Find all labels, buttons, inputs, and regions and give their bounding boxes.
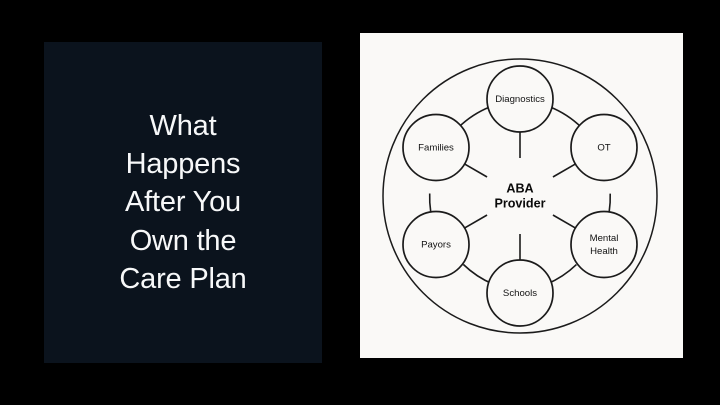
title-panel: What Happens After You Own the Care Plan xyxy=(44,42,322,363)
node-diagnostics[interactable]: Diagnostics xyxy=(487,66,553,132)
spoke-hub-families xyxy=(465,164,488,177)
slide-canvas: What Happens After You Own the Care Plan xyxy=(0,0,720,405)
node-hub-label-line-1: ABA xyxy=(506,181,533,195)
hub-and-spoke-diagram: Diagnostics OT Mental Health Schools xyxy=(360,33,683,358)
node-payors[interactable]: Payors xyxy=(403,212,469,278)
node-hub-label-line-2: Provider xyxy=(494,196,545,210)
node-mental-health[interactable]: Mental Health xyxy=(571,212,637,278)
diagram-panel: Diagnostics OT Mental Health Schools xyxy=(360,33,683,358)
spoke-hub-payors xyxy=(465,215,488,228)
spoke-hub-ot xyxy=(553,164,576,177)
node-families[interactable]: Families xyxy=(403,115,469,181)
node-diagnostics-label: Diagnostics xyxy=(495,94,545,105)
node-mental-health-circle[interactable] xyxy=(571,212,637,278)
node-payors-label: Payors xyxy=(421,240,451,251)
node-schools[interactable]: Schools xyxy=(487,260,553,326)
node-mental-health-label-line-2: Health xyxy=(590,246,618,257)
node-ot[interactable]: OT xyxy=(571,115,637,181)
spoke-hub-mental-health xyxy=(553,215,576,228)
node-schools-label: Schools xyxy=(503,288,537,299)
node-hub-aba-provider[interactable]: ABA Provider xyxy=(482,158,558,234)
page-title: What Happens After You Own the Care Plan xyxy=(119,107,246,298)
node-mental-health-label-line-1: Mental xyxy=(590,233,619,244)
node-ot-label: OT xyxy=(597,143,610,154)
node-families-label: Families xyxy=(418,143,454,154)
